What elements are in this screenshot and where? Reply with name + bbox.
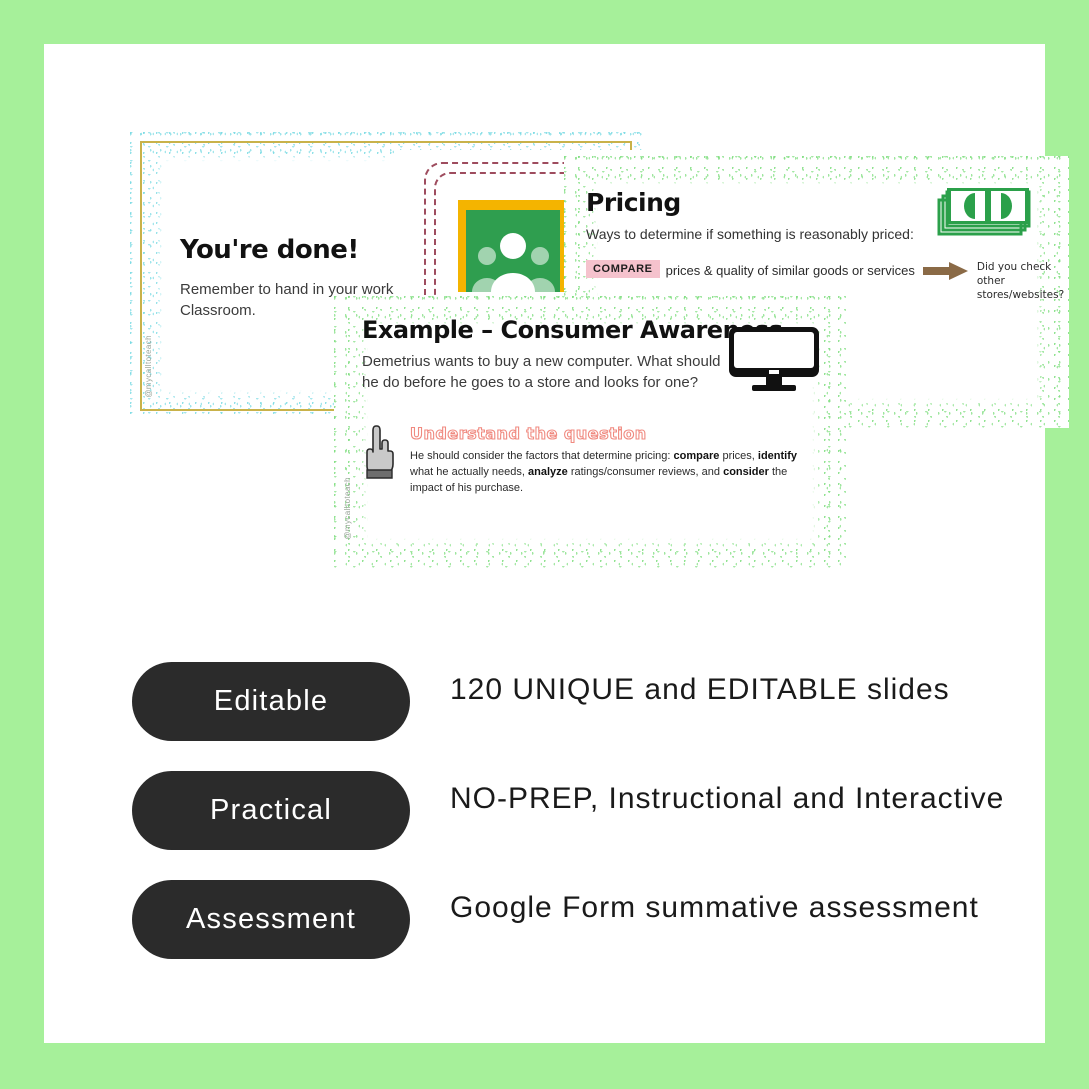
slide-title-example: Example – Consumer Awareness bbox=[362, 316, 783, 344]
hint-text-wrap: Understand the question He should consid… bbox=[410, 424, 810, 497]
feature-description: 120 UNIQUE and EDITABLE slides bbox=[410, 662, 1062, 711]
slide-example-consumer-awareness[interactable]: Example – Consumer Awareness Demetrius w… bbox=[334, 296, 846, 568]
pricing-question: Did you check other stores/websites? bbox=[977, 260, 1064, 303]
feature-pill-label: Practical bbox=[210, 794, 332, 827]
pricing-tag: COMPARE bbox=[586, 260, 660, 278]
feature-description: NO-PREP, Instructional and Interactive bbox=[410, 771, 1062, 820]
hint-block: Understand the question He should consid… bbox=[360, 424, 824, 497]
white-content-card: You're done! Remember to hand in your wo… bbox=[44, 44, 1045, 1043]
slide-preview-stack: You're done! Remember to hand in your wo… bbox=[44, 44, 1089, 604]
watermark-example: @mycalltoteach bbox=[343, 477, 352, 540]
slide-title-youre-done: You're done! bbox=[180, 235, 359, 265]
arrow-right-icon bbox=[923, 260, 969, 281]
feature-pill-assessment[interactable]: Assessment bbox=[132, 880, 410, 959]
feature-row: Assessment Google Form summative assessm… bbox=[132, 880, 1062, 959]
computer-monitor-icon bbox=[728, 326, 820, 392]
google-classroom-icon bbox=[458, 200, 568, 292]
feature-pill-label: Assessment bbox=[186, 903, 356, 936]
feature-pill-label: Editable bbox=[214, 685, 328, 718]
promo-page: You're done! Remember to hand in your wo… bbox=[0, 0, 1089, 1089]
money-stack-icon bbox=[935, 184, 1035, 240]
slide-title-pricing: Pricing bbox=[586, 188, 681, 217]
hint-title: Understand the question bbox=[410, 424, 810, 443]
watermark-done: @mycalltoteach bbox=[144, 335, 153, 398]
slide-body-example: Demetrius wants to buy a new computer. W… bbox=[362, 352, 722, 393]
slide-subtitle-pricing: Ways to determine if something is reason… bbox=[586, 226, 914, 242]
feature-description: Google Form summative assessment bbox=[410, 880, 1062, 929]
feature-pill-editable[interactable]: Editable bbox=[132, 662, 410, 741]
pricing-text: prices & quality of similar goods or ser… bbox=[666, 260, 915, 278]
hint-body: He should consider the factors that dete… bbox=[410, 449, 810, 497]
pointing-hand-icon bbox=[360, 424, 396, 480]
feature-list: Editable 120 UNIQUE and EDITABLE slides … bbox=[132, 662, 1062, 989]
feature-row: Practical NO-PREP, Instructional and Int… bbox=[132, 771, 1062, 850]
feature-row: Editable 120 UNIQUE and EDITABLE slides bbox=[132, 662, 1062, 741]
feature-pill-practical[interactable]: Practical bbox=[132, 771, 410, 850]
